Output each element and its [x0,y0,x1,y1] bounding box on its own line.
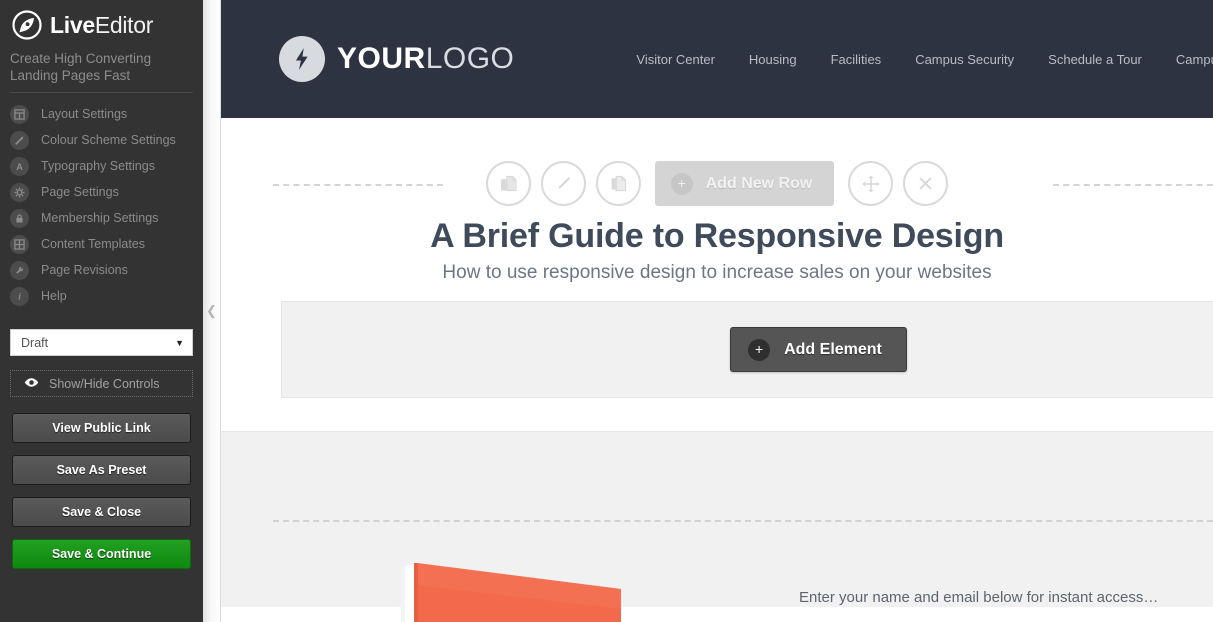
hero-row: + Add New Row A Brief Guide to Responsiv… [221,118,1213,432]
sidebar-item-label: Page Settings [41,185,119,199]
optin-row-guide [273,520,1213,522]
sidebar-item-label: Help [41,289,67,303]
element-dropzone[interactable]: + Add Element [281,301,1213,398]
add-element-button[interactable]: + Add Element [730,327,907,372]
sidebar-item-page-settings[interactable]: Page Settings [8,179,195,205]
optin-row: Enter your name and email below for inst… [221,432,1213,607]
letter-a-icon: A [10,157,29,176]
optin-instruction-text: Enter your name and email below for inst… [799,589,1158,606]
sidebar-item-label: Content Templates [41,237,145,251]
page-status-select[interactable]: Draft ▼ [10,329,193,356]
edit-row-icon[interactable] [541,161,586,206]
app-logo: LiveEditor [8,0,195,44]
info-icon: i [10,287,29,306]
show-hide-controls-toggle[interactable]: Show/Hide Controls [10,370,193,397]
chevron-left-icon: ❮ [206,303,217,319]
view-public-link-button[interactable]: View Public Link [12,413,191,443]
sidebar-collapse-handle[interactable]: ❮ [203,0,221,622]
editor-sidebar: LiveEditor Create High Converting Landin… [0,0,203,622]
add-new-row-button[interactable]: + Add New Row [655,161,835,206]
app-tagline: Create High Converting Landing Pages Fas… [8,44,195,92]
svg-text:A: A [16,161,23,171]
sidebar-item-label: Colour Scheme Settings [41,133,176,147]
plus-icon: + [671,173,693,195]
gear-icon [10,183,29,202]
move-icon[interactable] [848,161,893,206]
lock-icon [10,209,29,228]
sidebar-item-typography-settings[interactable]: A Typography Settings [8,153,195,179]
page-status-value: Draft [21,336,48,350]
save-row-icon[interactable] [486,161,531,206]
page-canvas: YOURLOGO Visitor Center Housing Faciliti… [221,0,1213,622]
eye-icon [23,375,40,393]
row-guide-right [1053,184,1213,186]
site-logo[interactable]: YOURLOGO [279,36,514,82]
wrench-icon [10,261,29,280]
save-and-continue-button[interactable]: Save & Continue [12,539,191,569]
sidebar-item-page-revisions[interactable]: Page Revisions [8,257,195,283]
rocket-badge-icon [12,10,42,40]
site-nav-item-schedule-a-tour[interactable]: Schedule a Tour [1048,52,1142,67]
row-toolbar: + Add New Row [221,156,1213,211]
grid-icon [10,235,29,254]
hero-subheadline: How to use responsive design to increase… [221,262,1213,284]
sidebar-item-label: Layout Settings [41,107,127,121]
add-new-row-label: Add New Row [706,175,813,193]
site-nav: Visitor Center Housing Facilities Campus… [636,52,1213,67]
app-logo-bold: Live [50,12,95,38]
site-nav-item-campus-security[interactable]: Campus Security [915,52,1014,67]
row-guide-left [273,184,443,186]
save-and-close-button[interactable]: Save & Close [12,497,191,527]
sidebar-item-label: Page Revisions [41,263,128,277]
show-hide-controls-label: Show/Hide Controls [49,377,159,391]
sidebar-item-help[interactable]: i Help [8,283,195,309]
close-icon[interactable] [903,161,948,206]
sidebar-item-content-templates[interactable]: Content Templates [8,231,195,257]
save-as-preset-button[interactable]: Save As Preset [12,455,191,485]
svg-text:i: i [18,291,21,301]
app-logo-text: LiveEditor [50,12,153,39]
site-nav-item-campus-map[interactable]: Campus Map [1176,52,1213,67]
site-logo-text: YOURLOGO [337,42,514,76]
sidebar-item-label: Membership Settings [41,211,158,225]
paintbrush-icon [10,131,29,150]
sidebar-item-layout-settings[interactable]: Layout Settings [8,101,195,127]
site-nav-item-facilities[interactable]: Facilities [831,52,882,67]
plus-icon: + [748,339,770,361]
add-element-label: Add Element [784,341,882,359]
layout-grid-icon [10,105,29,124]
sidebar-menu: Layout Settings Colour Scheme Settings A… [8,101,195,309]
hero-headline: A Brief Guide to Responsive Design [221,217,1213,256]
site-header: YOURLOGO Visitor Center Housing Faciliti… [221,0,1213,118]
site-logo-bold: YOUR [337,42,426,75]
chevron-down-icon: ▼ [175,338,184,348]
app-logo-light: Editor [95,12,153,38]
site-nav-item-housing[interactable]: Housing [749,52,797,67]
orange-ebook-icon [383,563,623,622]
site-logo-light: LOGO [426,42,515,75]
site-nav-item-visitor-center[interactable]: Visitor Center [636,52,715,67]
sidebar-item-membership-settings[interactable]: Membership Settings [8,205,195,231]
duplicate-row-icon[interactable] [596,161,641,206]
tagline-divider [10,92,193,93]
sidebar-item-colour-scheme-settings[interactable]: Colour Scheme Settings [8,127,195,153]
sidebar-item-label: Typography Settings [41,159,155,173]
lightning-bolt-icon [279,36,325,82]
live-editor-app: LiveEditor Create High Converting Landin… [0,0,1213,622]
